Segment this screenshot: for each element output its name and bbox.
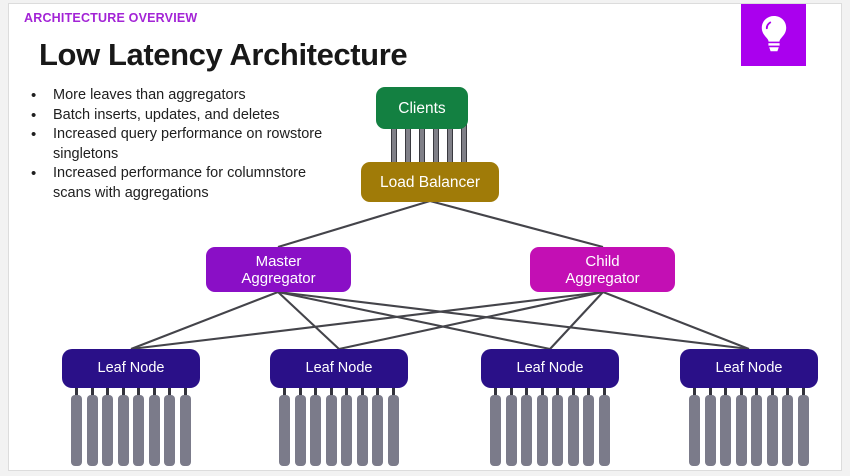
leaf-disk-stem <box>314 388 317 395</box>
leaf-disk <box>310 395 321 466</box>
leaf-disk-stem <box>786 388 789 395</box>
leaf-disk <box>118 395 129 466</box>
leaf-disk-stem <box>283 388 286 395</box>
node-leaf-2-label: Leaf Node <box>306 360 373 377</box>
leaf-disk <box>537 395 548 466</box>
leaf-disk-stem <box>299 388 302 395</box>
node-master-aggregator-label-line2: Aggregator <box>241 270 315 287</box>
leaf-disk <box>87 395 98 466</box>
leaf-disk-stem <box>556 388 559 395</box>
leaf-disk-stem <box>755 388 758 395</box>
leaf-disk <box>71 395 82 466</box>
leaf-disk <box>767 395 778 466</box>
leaf-disk <box>102 395 113 466</box>
node-child-aggregator-label-line2: Aggregator <box>565 270 639 287</box>
leaf-disk <box>388 395 399 466</box>
node-master-aggregator-label-line1: Master <box>256 253 302 270</box>
node-load-balancer-label: Load Balancer <box>380 174 480 191</box>
leaf-disk <box>357 395 368 466</box>
leaf-disk-stem <box>771 388 774 395</box>
leaf-disk <box>341 395 352 466</box>
slide-canvas: ARCHITECTURE OVERVIEW Low Latency Archit… <box>8 3 842 471</box>
leaf-disk <box>720 395 731 466</box>
leaf-disk-stem <box>122 388 125 395</box>
leaf-disk-stem <box>184 388 187 395</box>
leaf-disk-stem <box>525 388 528 395</box>
leaf-disk <box>133 395 144 466</box>
leaf-disk <box>751 395 762 466</box>
node-leaf-3-label: Leaf Node <box>517 360 584 377</box>
node-leaf-3[interactable]: Leaf Node <box>481 349 619 388</box>
leaf-disk-stem <box>740 388 743 395</box>
leaf-disk <box>164 395 175 466</box>
leaf-disk-stem <box>541 388 544 395</box>
leaf-disk-stem <box>510 388 513 395</box>
node-clients[interactable]: Clients <box>376 87 468 129</box>
node-leaf-4-label: Leaf Node <box>716 360 783 377</box>
leaf-disk-stem <box>330 388 333 395</box>
leaf-disk-stem <box>106 388 109 395</box>
node-leaf-1-label: Leaf Node <box>98 360 165 377</box>
leaf-disk <box>599 395 610 466</box>
leaf-disk-stem <box>153 388 156 395</box>
leaf-disk-stem <box>572 388 575 395</box>
leaf-disk-stem <box>494 388 497 395</box>
leaf-disk <box>372 395 383 466</box>
leaf-disk-stem <box>802 388 805 395</box>
architecture-diagram: Clients Load Balancer Master Aggregator … <box>9 4 842 471</box>
leaf-disk <box>705 395 716 466</box>
node-leaf-4[interactable]: Leaf Node <box>680 349 818 388</box>
leaf-disk <box>490 395 501 466</box>
leaf-disk <box>326 395 337 466</box>
leaf-disk-stem <box>724 388 727 395</box>
leaf-disk <box>798 395 809 466</box>
leaf-disk <box>506 395 517 466</box>
leaf-disk <box>782 395 793 466</box>
node-leaf-1[interactable]: Leaf Node <box>62 349 200 388</box>
leaf-disk <box>295 395 306 466</box>
leaf-disk <box>568 395 579 466</box>
leaf-disk-stem <box>345 388 348 395</box>
node-clients-label: Clients <box>398 100 445 117</box>
node-leaf-2[interactable]: Leaf Node <box>270 349 408 388</box>
node-load-balancer[interactable]: Load Balancer <box>361 162 499 202</box>
leaf-disk <box>689 395 700 466</box>
leaf-disk-stem <box>75 388 78 395</box>
leaf-disk-stem <box>168 388 171 395</box>
leaf-disk <box>180 395 191 466</box>
node-master-aggregator[interactable]: Master Aggregator <box>206 247 351 292</box>
leaf-disk-stem <box>709 388 712 395</box>
leaf-disk <box>521 395 532 466</box>
leaf-disk <box>552 395 563 466</box>
leaf-disk <box>149 395 160 466</box>
leaf-disk-stem <box>91 388 94 395</box>
leaf-disk-stem <box>376 388 379 395</box>
leaf-disk <box>279 395 290 466</box>
leaf-disk <box>736 395 747 466</box>
node-child-aggregator[interactable]: Child Aggregator <box>530 247 675 292</box>
leaf-disk-stem <box>392 388 395 395</box>
leaf-disk <box>583 395 594 466</box>
leaf-disk-stem <box>361 388 364 395</box>
leaf-disk-stem <box>603 388 606 395</box>
node-child-aggregator-label-line1: Child <box>585 253 619 270</box>
leaf-disk-stem <box>587 388 590 395</box>
leaf-disk-stem <box>693 388 696 395</box>
leaf-disk-stem <box>137 388 140 395</box>
